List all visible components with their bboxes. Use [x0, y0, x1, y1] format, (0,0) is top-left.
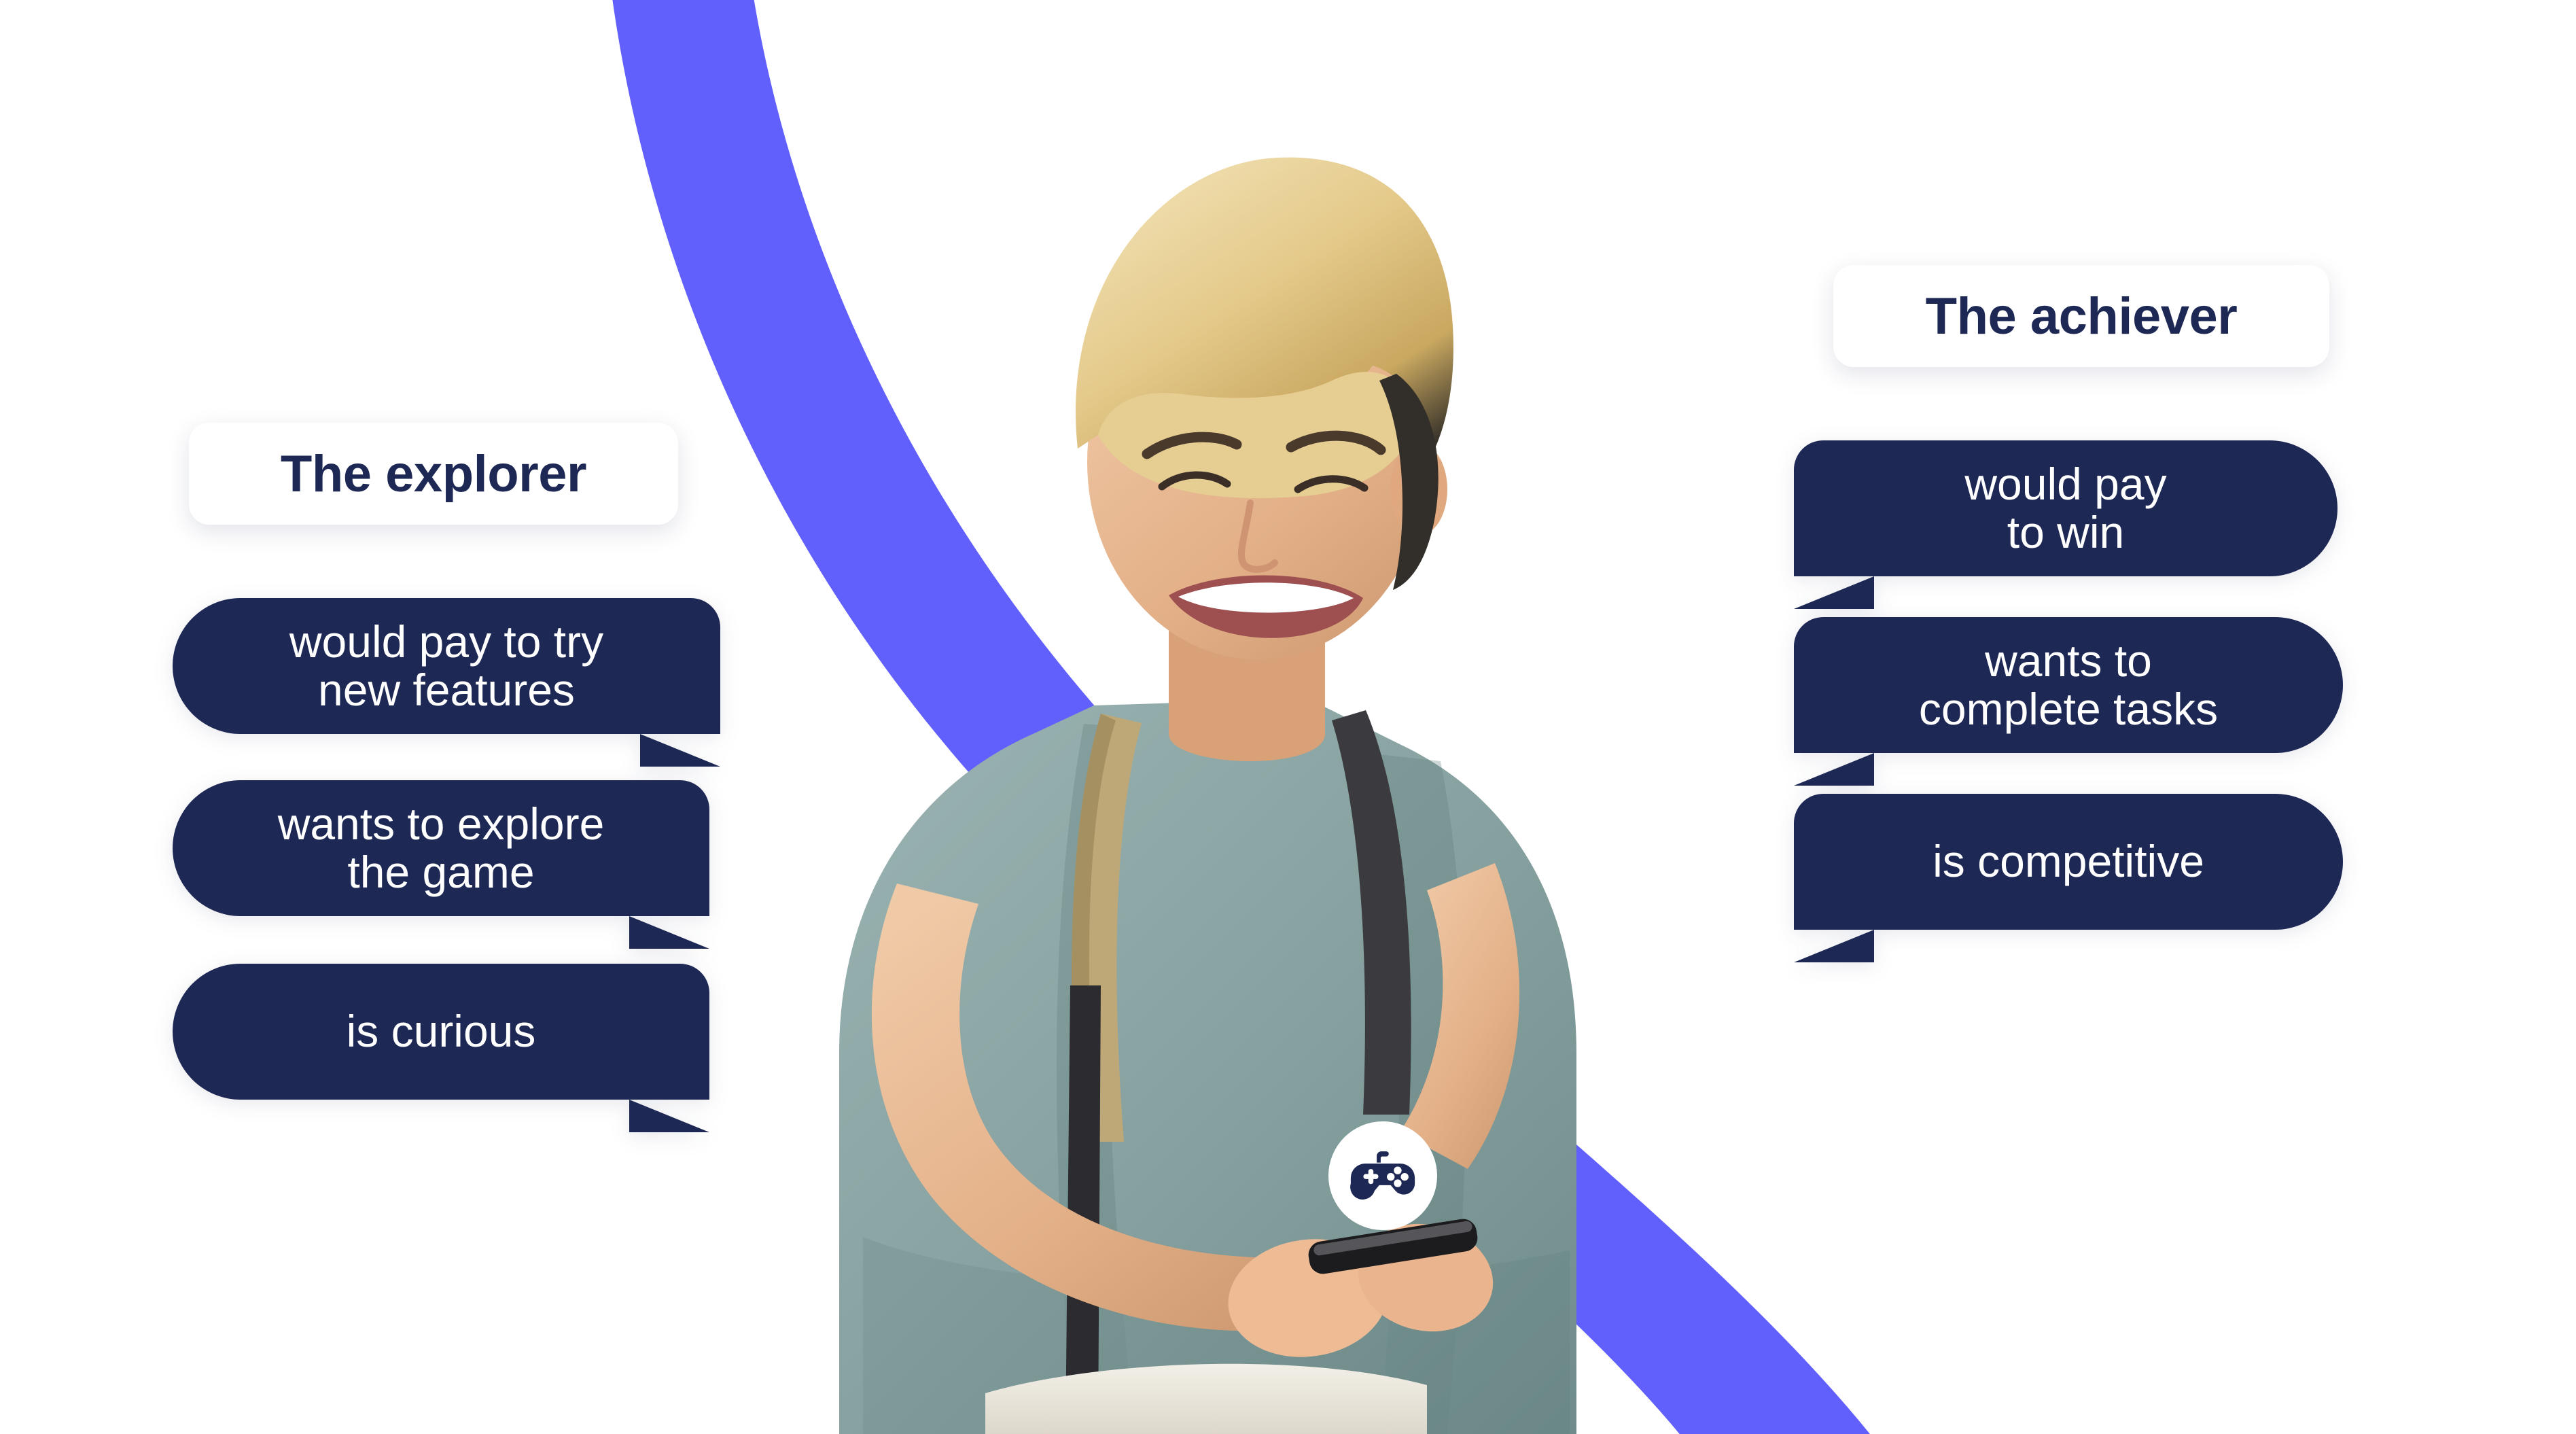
trait-text: wants to complete tasks	[1901, 637, 2236, 734]
trait-text: would pay to win	[1947, 460, 2184, 557]
persona-title-explorer: The explorer	[189, 423, 678, 525]
trait-text: wants to explore the game	[260, 800, 622, 897]
trait-bubble-achiever-2: wants to complete tasks	[1794, 617, 2343, 753]
persona-title-text: The achiever	[1926, 287, 2238, 346]
trait-text: is competitive	[1915, 837, 2222, 886]
persona-title-achiever: The achiever	[1833, 265, 2329, 367]
trait-bubble-achiever-1: would pay to win	[1794, 440, 2337, 576]
trait-bubble-achiever-3: is competitive	[1794, 794, 2343, 930]
trait-bubble-explorer-1: would pay to try new features	[173, 598, 720, 734]
slide-canvas: The explorer would pay to try new featur…	[0, 0, 2576, 1434]
gamepad-icon	[1347, 1140, 1418, 1211]
trait-bubble-explorer-3: is curious	[173, 964, 709, 1100]
persona-photo	[693, 82, 1699, 1434]
persona-title-text: The explorer	[281, 444, 586, 504]
trait-text: would pay to try new features	[272, 618, 621, 715]
trait-text: is curious	[329, 1007, 554, 1055]
trait-bubble-explorer-2: wants to explore the game	[173, 780, 709, 916]
gamepad-badge	[1328, 1121, 1437, 1230]
